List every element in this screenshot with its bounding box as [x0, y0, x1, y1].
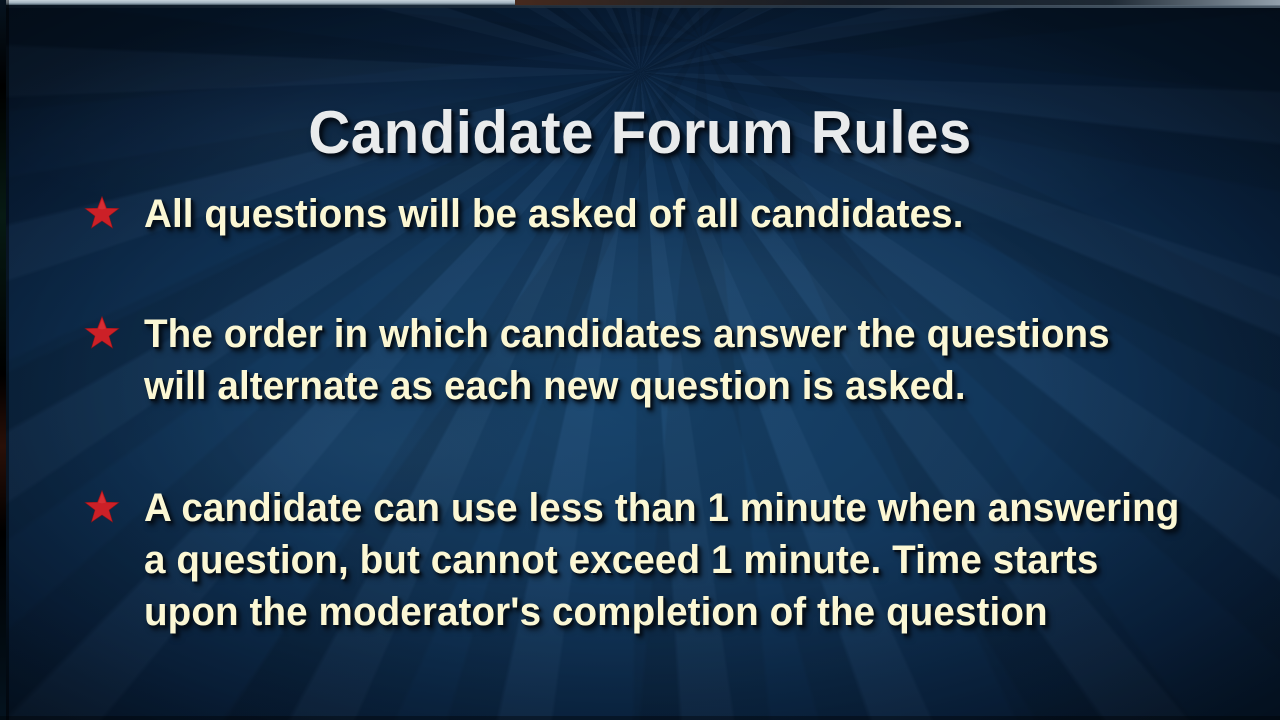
- rules-list: All questions will be asked of all candi…: [78, 188, 1258, 638]
- red-star-icon: [84, 315, 120, 351]
- slide-title: Candidate Forum Rules: [19, 98, 1261, 167]
- rule-text-3: A candidate can use less than 1 minute w…: [144, 482, 1219, 638]
- rule-item-2: The order in which candidates answer the…: [78, 308, 1258, 412]
- rule-text-2: The order in which candidates answer the…: [144, 308, 1219, 412]
- slide-content: Candidate Forum Rules All questions will…: [0, 0, 1280, 720]
- presentation-slide: Candidate Forum Rules All questions will…: [0, 0, 1280, 720]
- red-star-icon: [84, 489, 120, 525]
- red-star-icon: [84, 195, 120, 231]
- rule-text-1: All questions will be asked of all candi…: [144, 188, 1219, 240]
- rule-item-1: All questions will be asked of all candi…: [78, 188, 1258, 240]
- rule-item-3: A candidate can use less than 1 minute w…: [78, 482, 1258, 638]
